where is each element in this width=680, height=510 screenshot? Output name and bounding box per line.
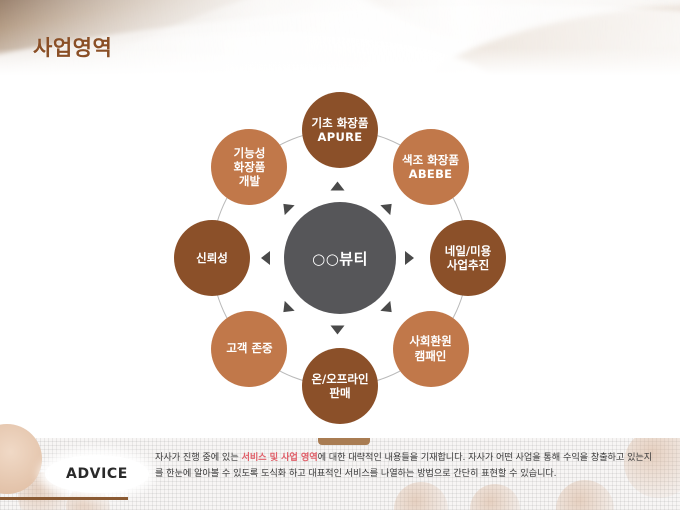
advice-tab-marker — [318, 438, 370, 445]
advice-blob-4 — [394, 482, 448, 510]
diagram-node-4-line-2: 캠패인 — [415, 349, 447, 363]
diagram-arrow-1 — [331, 182, 345, 191]
page-title: 사업영역 — [33, 32, 112, 62]
diagram-node-2-line-2: ABEBE — [409, 167, 453, 181]
diagram-node-4[interactable]: 사회환원캠패인 — [393, 311, 469, 387]
business-area-diagram: ○○뷰티 기초 화장품APURE색조 화장품ABEBE네일/미용사업추진사회환원… — [0, 78, 680, 438]
diagram-node-7[interactable]: 신뢰성 — [174, 220, 250, 296]
diagram-node-1-line-1: 기초 화장품 — [312, 116, 369, 130]
advice-blob-6 — [556, 480, 614, 510]
advice-badge: ADVICE — [45, 455, 149, 493]
diagram-node-1[interactable]: 기초 화장품APURE — [302, 92, 378, 168]
advice-text-highlight: 서비스 및 사업 영역 — [241, 452, 317, 463]
diagram-node-3[interactable]: 네일/미용사업추진 — [430, 220, 506, 296]
diagram-node-5[interactable]: 온/오프라인판매 — [302, 348, 378, 424]
advice-text-before: 자사가 진행 중에 있는 — [155, 452, 241, 463]
diagram-arrow-3 — [405, 251, 414, 265]
diagram-node-8-line-2: 화장품 — [234, 160, 266, 174]
advice-blob-5 — [470, 484, 520, 510]
advice-badge-label: ADVICE — [66, 466, 128, 482]
diagram-node-3-line-1: 네일/미용 — [445, 244, 492, 258]
diagram-node-4-line-1: 사회환원 — [409, 334, 451, 348]
center-node[interactable]: ○○뷰티 — [284, 202, 396, 314]
diagram-node-2[interactable]: 색조 화장품ABEBE — [393, 129, 469, 205]
slide-canvas: 사업영역 ○○뷰티 기초 화장품APURE색조 화장품ABEBE네일/미용사업추… — [0, 0, 680, 510]
bottom-rule — [0, 497, 128, 500]
diagram-node-2-line-1: 색조 화장품 — [402, 153, 459, 167]
diagram-node-5-line-1: 온/오프라인 — [311, 372, 368, 386]
diagram-node-6[interactable]: 고객 존중 — [211, 311, 287, 387]
diagram-node-1-line-2: APURE — [318, 130, 363, 144]
diagram-node-5-line-2: 판매 — [329, 386, 350, 400]
diagram-node-8-line-1: 기능성 — [234, 146, 266, 160]
diagram-node-3-line-2: 사업추진 — [447, 258, 489, 272]
center-node-label: ○○뷰티 — [312, 248, 368, 269]
diagram-node-6-line-1: 고객 존중 — [226, 341, 272, 355]
diagram-node-8-line-3: 개발 — [239, 174, 260, 188]
diagram-arrow-5 — [331, 326, 345, 335]
advice-text: 자사가 진행 중에 있는 서비스 및 사업 영역에 대한 대략적인 내용들을 기… — [155, 450, 655, 482]
diagram-arrow-7 — [261, 251, 270, 265]
diagram-node-7-line-1: 신뢰성 — [196, 251, 228, 265]
